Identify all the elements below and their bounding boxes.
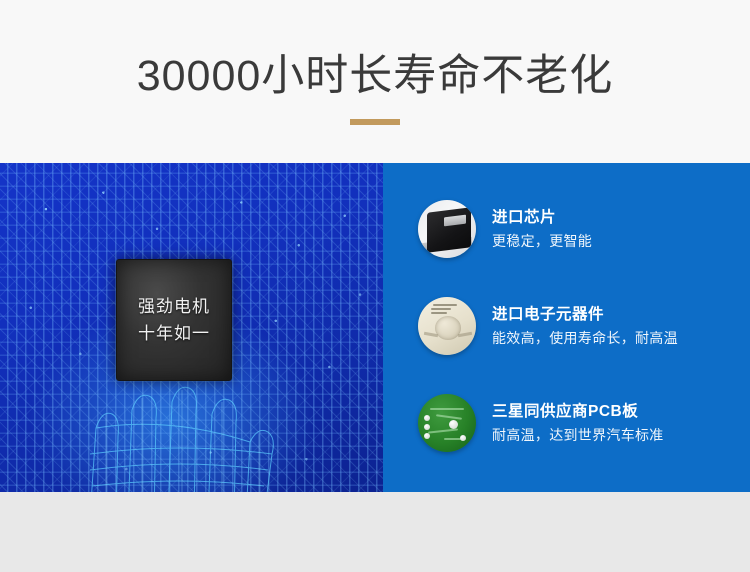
feature-item-pcb-board: 三星同供应商PCB板 耐高温，达到世界汽车标准 <box>418 392 748 454</box>
product-detail-page: 30000小时长寿命不老化 <box>0 0 750 572</box>
feature-item-imported-chip: 进口芯片 更稳定，更智能 <box>418 198 748 260</box>
feature-title: 进口芯片 <box>492 207 592 228</box>
page-title: 30000小时长寿命不老化 <box>0 50 750 102</box>
chip-line-1: 强劲电机 <box>138 293 210 320</box>
feature-text-block: 三星同供应商PCB板 耐高温，达到世界汽车标准 <box>492 401 664 446</box>
pcb-board-icon <box>418 394 476 452</box>
feature-list: 进口芯片 更稳定，更智能 进口电子元器件 能效高，使用寿命长，耐高温 <box>383 163 750 492</box>
electronic-component-icon <box>418 297 476 355</box>
feature-title: 进口电子元器件 <box>492 304 678 325</box>
motor-chip-badge: 强劲电机 十年如一 <box>116 259 232 381</box>
feature-text-block: 进口电子元器件 能效高，使用寿命长，耐高温 <box>492 304 678 349</box>
header-section: 30000小时长寿命不老化 <box>0 0 750 163</box>
imported-chip-icon <box>418 200 476 258</box>
feature-text-block: 进口芯片 更稳定，更智能 <box>492 207 592 252</box>
title-underline-accent <box>350 119 400 125</box>
hero-section: 强劲电机 十年如一 进口芯片 更稳定，更智能 <box>0 163 750 492</box>
feature-subtitle: 耐高温，达到世界汽车标准 <box>492 424 664 446</box>
footer-spacer <box>0 492 750 572</box>
feature-subtitle: 能效高，使用寿命长，耐高温 <box>492 327 678 349</box>
feature-item-electronic-component: 进口电子元器件 能效高，使用寿命长，耐高温 <box>418 295 748 357</box>
feature-subtitle: 更稳定，更智能 <box>492 230 592 252</box>
circuit-board-image: 强劲电机 十年如一 <box>0 163 383 492</box>
feature-title: 三星同供应商PCB板 <box>492 401 664 422</box>
chip-line-2: 十年如一 <box>138 320 210 347</box>
